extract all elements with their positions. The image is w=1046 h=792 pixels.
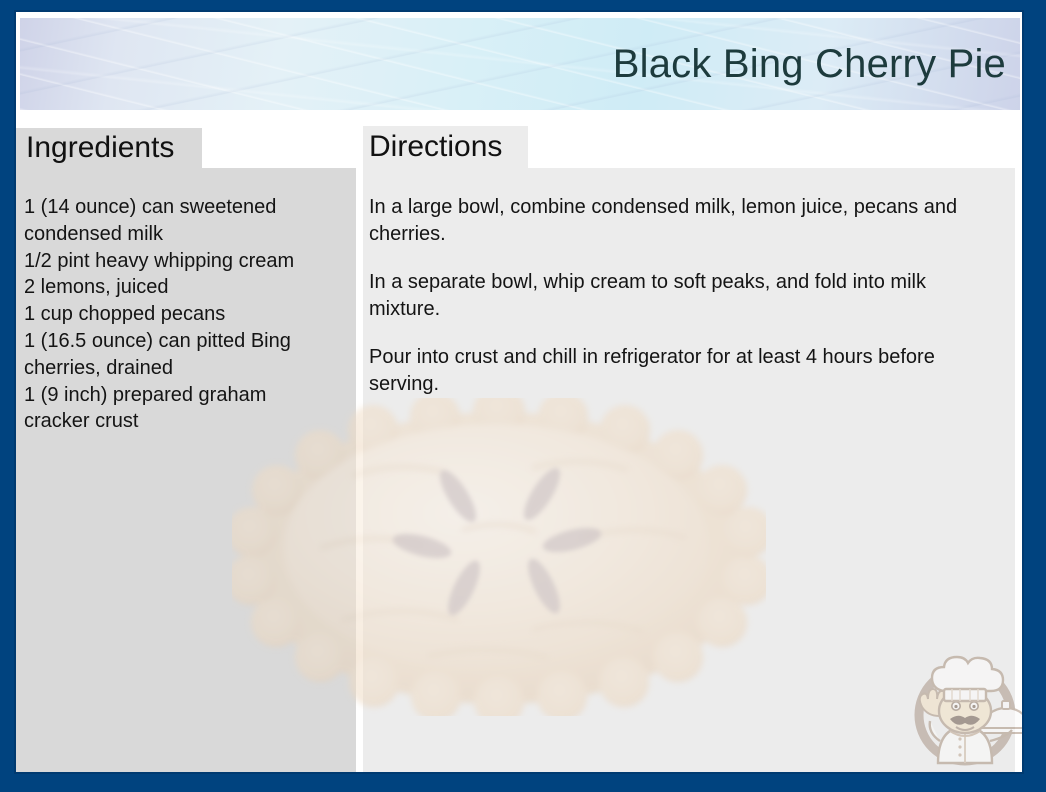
directions-panel: In a large bowl, combine condensed milk,… bbox=[363, 168, 1015, 775]
ingredients-tab: Ingredients bbox=[14, 128, 202, 168]
frame-border-right bbox=[1024, 0, 1046, 792]
directions-tab: Directions bbox=[363, 126, 528, 168]
ingredients-panel: 1 (14 ounce) can sweetened condensed mil… bbox=[14, 168, 356, 775]
directions-text: In a large bowl, combine condensed milk,… bbox=[369, 194, 1001, 397]
recipe-title: Black Bing Cherry Pie bbox=[613, 42, 1006, 86]
ingredients-text: 1 (14 ounce) can sweetened condensed mil… bbox=[24, 194, 348, 435]
frame-border-bottom bbox=[0, 772, 1046, 792]
frame-border-top bbox=[0, 0, 1046, 12]
frame-border-left bbox=[0, 0, 16, 792]
direction-step: Pour into crust and chill in refrigerato… bbox=[369, 344, 1001, 397]
header-banner: Black Bing Cherry Pie bbox=[20, 18, 1020, 110]
direction-step: In a separate bowl, whip cream to soft p… bbox=[369, 269, 1001, 322]
ingredients-heading: Ingredients bbox=[26, 133, 174, 163]
directions-heading: Directions bbox=[369, 132, 502, 162]
recipe-slide: Black Bing Cherry Pie Ingredients 1 (14 … bbox=[0, 0, 1046, 792]
direction-step: In a large bowl, combine condensed milk,… bbox=[369, 194, 1001, 247]
